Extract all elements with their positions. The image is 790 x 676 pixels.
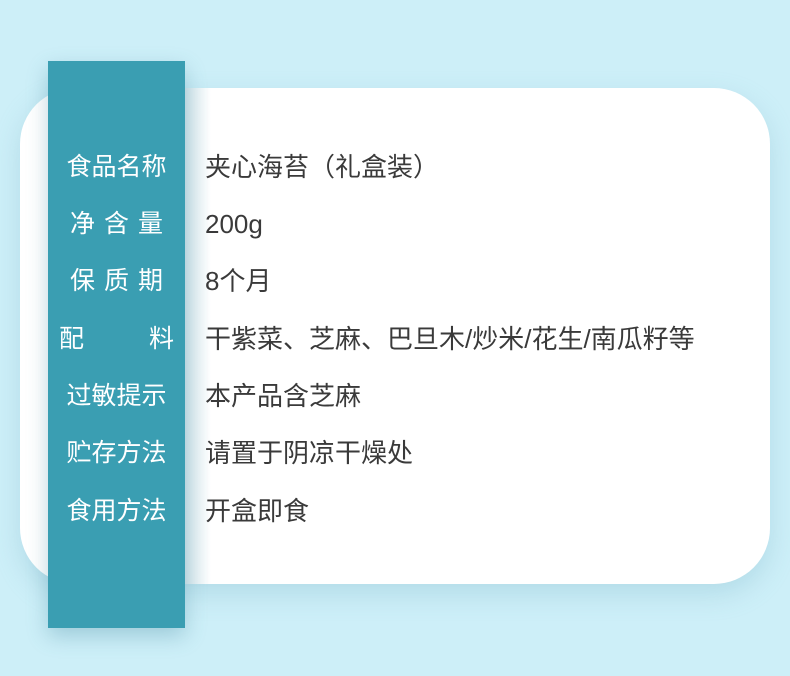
spec-label-product-name: 食品名称 <box>48 145 185 189</box>
spec-value-allergen-notice: 本产品含芝麻 <box>185 374 778 418</box>
spec-row-product-name: 食品名称 夹心海苔（礼盒装） <box>48 145 778 189</box>
spec-table: 食品名称 夹心海苔（礼盒装） 净含量 200g 保质期 8个月 配 料 干紫菜、… <box>0 0 790 676</box>
spec-label-net-weight: 净含量 <box>48 202 185 246</box>
product-spec-panel: 食品名称 夹心海苔（礼盒装） 净含量 200g 保质期 8个月 配 料 干紫菜、… <box>0 0 790 676</box>
spec-label-allergen-notice: 过敏提示 <box>48 374 185 418</box>
spec-row-shelf-life: 保质期 8个月 <box>48 259 778 303</box>
spec-label-ingredients: 配 料 <box>48 317 185 361</box>
spec-label-storage-method: 贮存方法 <box>48 431 185 475</box>
spec-value-storage-method: 请置于阴凉干燥处 <box>185 431 778 475</box>
spec-value-ingredients: 干紫菜、芝麻、巴旦木/炒米/花生/南瓜籽等 <box>185 317 778 361</box>
spec-row-storage-method: 贮存方法 请置于阴凉干燥处 <box>48 431 778 475</box>
spec-label-ingredients-char-1: 配 <box>59 317 84 361</box>
spec-label-shelf-life: 保质期 <box>48 259 185 303</box>
spec-row-net-weight: 净含量 200g <box>48 202 778 246</box>
spec-label-serving-method: 食用方法 <box>48 489 185 533</box>
spec-value-serving-method: 开盒即食 <box>185 489 778 533</box>
spec-row-serving-method: 食用方法 开盒即食 <box>48 489 778 533</box>
spec-value-shelf-life: 8个月 <box>185 259 778 303</box>
spec-row-ingredients: 配 料 干紫菜、芝麻、巴旦木/炒米/花生/南瓜籽等 <box>48 317 778 361</box>
spec-value-net-weight: 200g <box>185 202 778 246</box>
spec-row-allergen-notice: 过敏提示 本产品含芝麻 <box>48 374 778 418</box>
spec-value-product-name: 夹心海苔（礼盒装） <box>185 145 778 189</box>
spec-label-ingredients-char-2: 料 <box>149 317 174 361</box>
